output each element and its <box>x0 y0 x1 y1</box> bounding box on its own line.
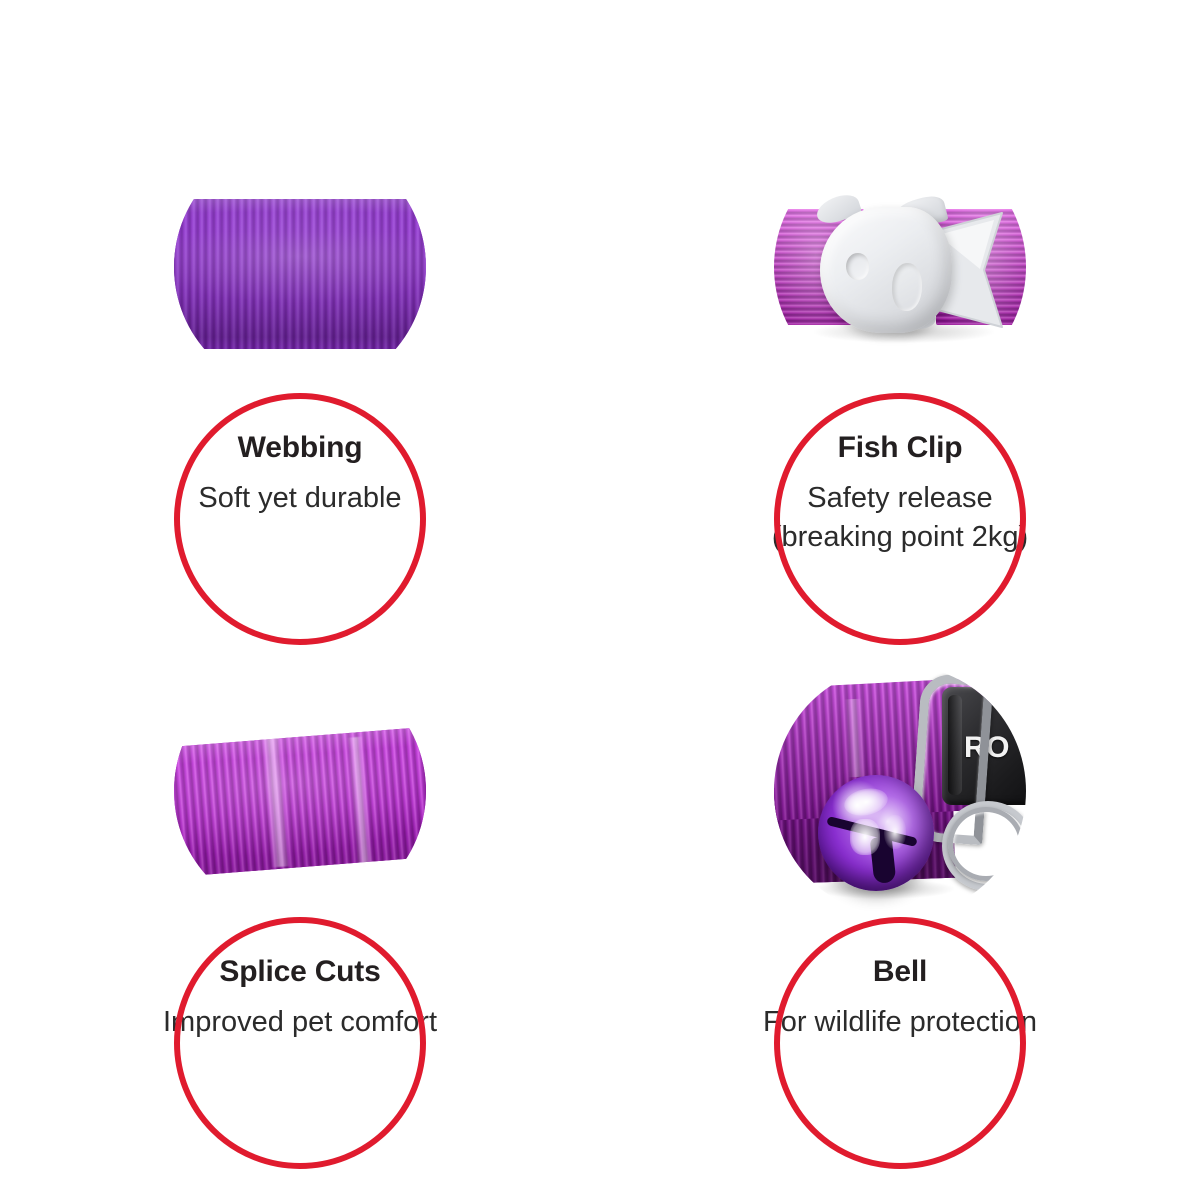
feature-title-splice-cuts: Splice Cuts <box>20 955 580 988</box>
feature-card-splice-cuts: Splice Cuts Improved pet comfort <box>0 600 600 1200</box>
feature-description-bell: For wildlife protection <box>620 1003 1180 1042</box>
feature-card-webbing: Webbing Soft yet durable <box>0 0 600 600</box>
splice-cuts-caption: Splice Cuts Improved pet comfort <box>20 917 580 1042</box>
feature-grid: Webbing Soft yet durable <box>0 0 1200 1200</box>
feature-description-splice-cuts: Improved pet comfort <box>20 1003 580 1042</box>
feature-description-fish-clip: Safety release (breaking point 2kg) <box>620 479 1180 556</box>
bell-photo: RO <box>774 665 1026 917</box>
webbing-medallion <box>174 141 426 393</box>
feature-description-line: For wildlife protection <box>620 1003 1180 1042</box>
fish-clip-photo <box>774 141 1026 393</box>
splice-cuts-medallion <box>174 665 426 917</box>
feature-title-webbing: Webbing <box>20 431 580 464</box>
feature-description-webbing: Soft yet durable <box>20 479 580 518</box>
feature-description-line: Safety release <box>620 479 1180 518</box>
fish-clip-medallion <box>774 141 1026 393</box>
feature-card-fish-clip: Fish Clip Safety release (breaking point… <box>600 0 1200 600</box>
feature-description-line: (breaking point 2kg) <box>620 518 1180 557</box>
fish-clip-body <box>820 207 952 333</box>
webbing-sheen-overlay <box>174 199 426 349</box>
feature-description-line: Soft yet durable <box>20 479 580 518</box>
bell-caption: Bell For wildlife protection <box>620 917 1180 1042</box>
fish-clip-caption: Fish Clip Safety release (breaking point… <box>620 393 1180 556</box>
feature-card-bell: RO Bell For wildlife protection <box>600 600 1200 1200</box>
splice-cuts-photo <box>174 665 426 917</box>
splice-sheen-overlay <box>174 727 426 876</box>
bell-highlight <box>884 815 906 849</box>
bell-medallion: RO <box>774 665 1026 917</box>
bell-highlight <box>842 785 890 820</box>
bell-highlight <box>850 819 880 855</box>
feature-title-bell: Bell <box>620 955 1180 988</box>
fish-gill-detail <box>892 263 922 311</box>
webbing-photo <box>174 141 426 393</box>
webbing-caption: Webbing Soft yet durable <box>20 393 580 518</box>
feature-description-line: Improved pet comfort <box>20 1003 580 1042</box>
feature-title-fish-clip: Fish Clip <box>620 431 1180 464</box>
split-ring-inner-icon <box>948 807 1024 881</box>
bell-icon <box>818 775 934 891</box>
fish-eye-detail <box>846 253 869 280</box>
